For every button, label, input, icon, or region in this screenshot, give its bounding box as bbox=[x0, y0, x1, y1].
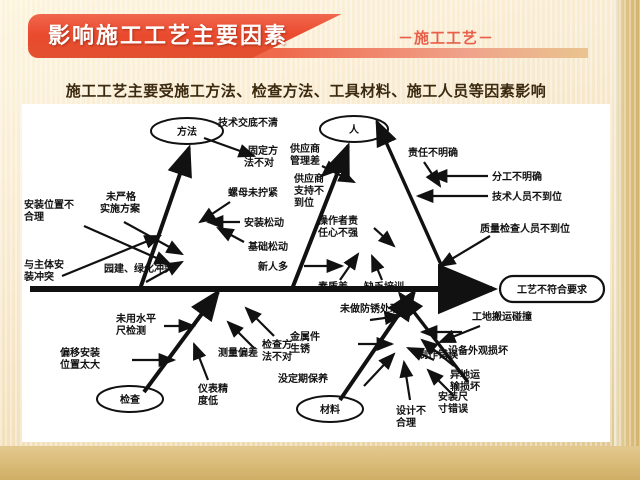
subtitle-text: 施工工艺主要受施工方法、检查方法、工具材料、施工人员等因素影响 bbox=[0, 80, 612, 101]
cause-group-method: 未严格 实施方案 安装位置不 合理 与主体安 装冲突 园建、绿化冲突 bbox=[23, 190, 182, 283]
cause-new-people: 新人多 bbox=[258, 260, 288, 273]
cause-offset-l1: 偏移安装 bbox=[60, 346, 100, 359]
category-oval-material: 材料 bbox=[297, 396, 363, 422]
cause-no-maintain: 没定期保养 bbox=[278, 372, 329, 385]
decorative-bottom-band bbox=[0, 446, 640, 480]
cause-qc-staff: 质量检查人员不到位 bbox=[480, 222, 570, 235]
cause-nut-loose: 螺母未拧紧 bbox=[228, 186, 278, 199]
cause-not-strict-l2: 实施方案 bbox=[100, 202, 141, 215]
cause-pos-unreason-l2: 合理 bbox=[23, 210, 44, 223]
cause-tech-brief: 技术交底不清 bbox=[218, 116, 278, 129]
cause-transport-l1: 异地运 bbox=[450, 368, 480, 381]
cause-fix-method-l2: 法不对 bbox=[244, 156, 274, 169]
cause-supplier-sup-l1: 供应商 bbox=[293, 172, 324, 185]
cause-supplier-mgmt-l1: 供应商 bbox=[289, 142, 320, 155]
cause-check-method-l2: 法不对 bbox=[262, 350, 292, 363]
category-label-method: 方法 bbox=[177, 125, 197, 138]
slide-root: 影响施工工艺主要因素 －施工工艺－ 施工工艺主要受施工方法、检查方法、工具材料、… bbox=[0, 0, 640, 480]
cause-no-rustproof: 未做防锈处理 bbox=[339, 302, 400, 315]
cause-main-conflict-l2: 装冲突 bbox=[23, 270, 54, 283]
cause-no-level-l1: 未用水平 bbox=[115, 312, 156, 325]
cause-make-error: 制作错误 bbox=[418, 348, 459, 361]
cause-offset-l2: 位置太大 bbox=[60, 358, 100, 371]
category-label-material: 材料 bbox=[320, 403, 340, 416]
effect-label: 工艺不符合要求 bbox=[517, 283, 588, 296]
cause-operator-l2: 任心不强 bbox=[317, 226, 358, 239]
cause-metal-rust-l1: 金属件 bbox=[289, 330, 320, 343]
cause-site-bump: 工地搬运碰撞 bbox=[472, 310, 532, 323]
cause-design-bad-l2: 合理 bbox=[395, 416, 416, 429]
banner-subtitle: －施工工艺－ bbox=[398, 28, 494, 50]
decorative-right-band bbox=[614, 0, 640, 480]
category-oval-check: 检查 bbox=[97, 386, 163, 412]
cause-supplier-mgmt-l2: 管理差 bbox=[290, 154, 320, 167]
cause-main-conflict-l1: 与主体安 bbox=[24, 258, 64, 271]
cause-check-method-l1: 检查方 bbox=[262, 338, 292, 351]
cause-supplier-sup-l3: 到位 bbox=[294, 196, 314, 209]
cause-resp-unclear: 责任不明确 bbox=[408, 146, 458, 159]
cause-lack-training: 缺乏培训 bbox=[363, 280, 404, 293]
category-label-person: 人 bbox=[349, 123, 360, 136]
cause-supplier-sup-l2: 支持不 bbox=[293, 184, 324, 197]
cause-no-level-l2: 尺检测 bbox=[116, 324, 146, 337]
fishbone-canvas: 工艺不符合要求 方法 人 检查 材料 bbox=[22, 104, 610, 442]
title-banner: 影响施工工艺主要因素 －施工工艺－ bbox=[0, 14, 640, 60]
branch-bone-transport bbox=[400, 294, 468, 382]
cause-instrument-l2: 度低 bbox=[198, 394, 218, 407]
cause-group-check: 未用水平 尺检测 偏移安装 位置太大 仪表精 度低 测量偏差 检查方 法不对 bbox=[60, 308, 292, 407]
effect-head-box: 工艺不符合要求 bbox=[500, 276, 604, 302]
cause-measure-dev: 测量偏差 bbox=[218, 346, 258, 359]
cause-install-size-l1: 安装尺 bbox=[438, 390, 468, 403]
cause-design-bad-l1: 设计不 bbox=[396, 404, 426, 417]
cause-metal-rust-l2: 生锈 bbox=[290, 342, 310, 355]
cause-division-unclear: 分工不明确 bbox=[492, 170, 542, 183]
cause-install-size-l2: 寸错误 bbox=[438, 402, 469, 415]
page-title: 影响施工工艺主要因素 bbox=[48, 22, 288, 52]
cause-operator-l1: 操作者责 bbox=[318, 214, 358, 227]
cause-quality-poor: 素质差 bbox=[318, 280, 348, 293]
cause-pos-unreason-l1: 安装位置不 bbox=[24, 198, 74, 211]
cause-instrument-l1: 仪表精 bbox=[197, 382, 228, 395]
cause-fix-method-l1: 固定方 bbox=[248, 144, 278, 157]
cause-install-loose: 安装松动 bbox=[244, 216, 284, 229]
category-oval-person: 人 bbox=[320, 116, 388, 142]
cause-base-loose: 基础松动 bbox=[247, 240, 288, 253]
cause-not-strict-l1: 未严格 bbox=[105, 190, 137, 203]
cause-garden-conflict: 园建、绿化冲突 bbox=[104, 262, 174, 275]
category-label-check: 检查 bbox=[120, 393, 141, 406]
cause-tech-staff: 技术人员不到位 bbox=[492, 190, 562, 203]
